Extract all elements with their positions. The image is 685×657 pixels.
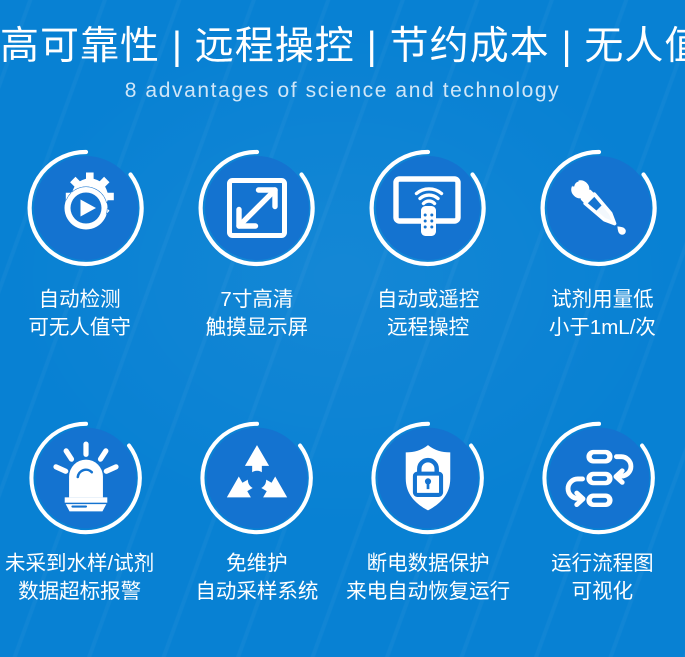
advantage-item-2[interactable]: 7寸高清 触摸显示屏 (171, 146, 342, 418)
advantage-label-7: 断电数据保护 来电自动恢复运行 (346, 550, 510, 606)
page-title: 高可靠性 | 远程操控 | 节约成本 | 无人值守 (0, 22, 685, 72)
advantage-item-4[interactable]: 试剂用量低 小于1mL/次 (514, 146, 685, 418)
advantage-item-3[interactable]: 自动或遥控 远程操控 (343, 146, 514, 418)
advantage-label-5-line1: 未采到水样/试剂 (5, 552, 154, 575)
advantage-label-8-line1: 运行流程图 (551, 552, 654, 575)
advantage-label-4: 试剂用量低 小于1mL/次 (549, 286, 656, 342)
header: 高可靠性 | 远程操控 | 节约成本 | 无人值守 8 advantages o… (0, 0, 685, 106)
recycle-icon (197, 418, 317, 538)
advantage-label-3-line1: 自动或遥控 (377, 288, 480, 311)
advantage-item-5[interactable]: 未采到水样/试剂 数据超标报警 (0, 418, 171, 655)
advantage-item-7[interactable]: 断电数据保护 来电自动恢复运行 (343, 418, 514, 655)
advantage-label-1: 自动检测 可无人值守 (28, 286, 131, 342)
advantage-label-6: 免维护 自动采样系统 (195, 550, 318, 606)
advantage-item-8[interactable]: 运行流程图 可视化 (514, 418, 685, 655)
advantage-label-6-line2: 自动采样系统 (195, 578, 318, 606)
advantages-grid: 自动检测 可无人值守 7寸高清 触摸显示屏 (0, 146, 685, 655)
advantage-label-3: 自动或遥控 远程操控 (377, 286, 480, 342)
advantage-label-1-line2: 可无人值守 (28, 314, 131, 342)
advantage-label-8-line2: 可视化 (551, 578, 654, 606)
page-subtitle: 8 advantages of science and technology (0, 76, 685, 106)
advantages-infographic: 高可靠性 | 远程操控 | 节约成本 | 无人值守 8 advantages o… (0, 0, 685, 657)
screen-remote-wifi-icon (366, 146, 490, 270)
advantage-label-2-line1: 7寸高清 (220, 288, 293, 311)
advantage-label-5: 未采到水样/试剂 数据超标报警 (5, 550, 154, 606)
alarm-siren-icon (26, 418, 146, 538)
advantage-label-2-line2: 触摸显示屏 (206, 314, 309, 342)
expand-arrows-screen-icon (195, 146, 319, 270)
flowchart-loop-icon (539, 418, 659, 538)
shield-lock-icon (368, 418, 488, 538)
advantage-label-4-line2: 小于1mL/次 (549, 314, 656, 342)
advantage-item-6[interactable]: 免维护 自动采样系统 (171, 418, 342, 655)
advantage-label-1-line1: 自动检测 (39, 288, 121, 311)
advantage-label-2: 7寸高清 触摸显示屏 (206, 286, 309, 342)
advantage-label-7-line2: 来电自动恢复运行 (346, 578, 510, 606)
advantage-label-5-line2: 数据超标报警 (5, 578, 154, 606)
advantage-label-6-line1: 免维护 (226, 552, 288, 575)
advantage-label-8: 运行流程图 可视化 (551, 550, 654, 606)
advantage-label-7-line1: 断电数据保护 (367, 552, 490, 575)
advantage-label-4-line1: 试剂用量低 (551, 288, 654, 311)
dropper-icon (537, 146, 661, 270)
advantage-item-1[interactable]: 自动检测 可无人值守 (0, 146, 171, 418)
gear-play-icon (24, 146, 148, 270)
advantage-label-3-line2: 远程操控 (377, 314, 480, 342)
